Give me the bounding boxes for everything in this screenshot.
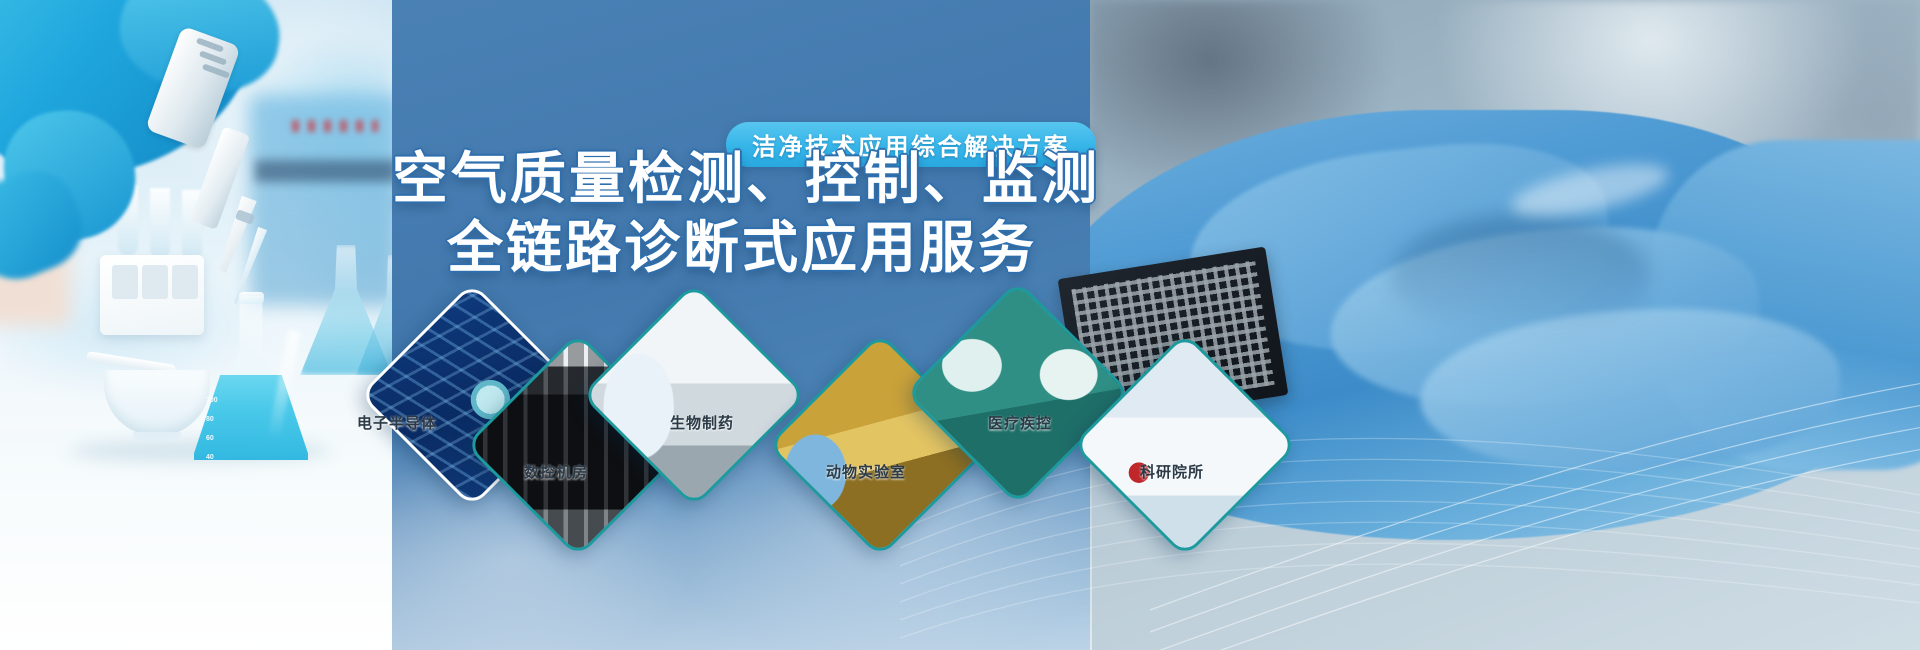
industry-card-row: 电子半导体 数控机房 生物制药 动物实验室 医疗疾控 科研院所	[0, 0, 1920, 650]
card-label-electronics-semiconductor: 电子半导体	[357, 412, 437, 433]
card-label-research-institute: 科研院所	[1140, 461, 1204, 482]
card-label-biopharmaceutical: 生物制药	[670, 412, 734, 433]
banner-hero: 100 80 60 40 洁净技术应用综合解决方案 空气质	[0, 0, 1920, 650]
card-research-institute[interactable]	[1072, 332, 1298, 558]
card-label-animal-laboratory: 动物实验室	[826, 461, 906, 482]
card-label-data-center: 数控机房	[524, 461, 588, 482]
card-label-medical-cdc: 医疗疾控	[988, 412, 1052, 433]
research-institute-icon	[1072, 332, 1298, 558]
